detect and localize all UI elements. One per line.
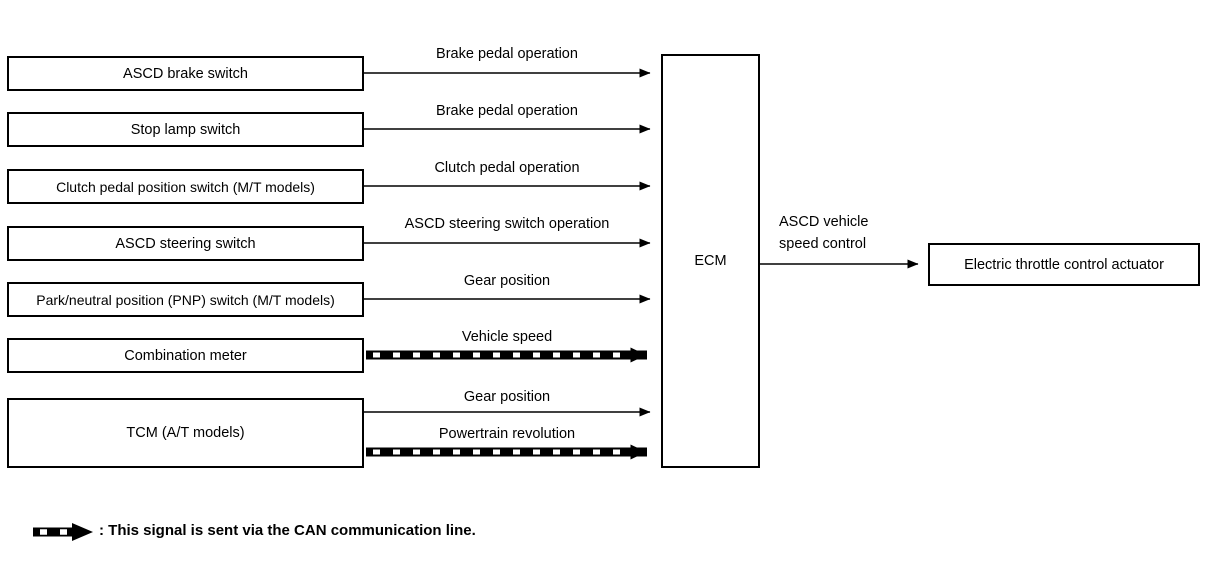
box-label: Clutch pedal position switch (M/T models… <box>56 179 315 195</box>
box-label: ASCD brake switch <box>123 66 248 82</box>
signal-label-gear-position-tcm: Gear position <box>364 389 650 405</box>
signal-label-gear-position-pnp: Gear position <box>364 273 650 289</box>
box-clutch-pedal-position-switch[interactable]: Clutch pedal position switch (M/T models… <box>7 169 364 204</box>
box-electric-throttle-control-actuator[interactable]: Electric throttle control actuator <box>928 243 1200 286</box>
signal-label-clutch-pedal-operation: Clutch pedal operation <box>364 160 650 176</box>
box-label: TCM (A/T models) <box>126 425 244 441</box>
box-label: Stop lamp switch <box>131 122 241 138</box>
box-tcm[interactable]: TCM (A/T models) <box>7 398 364 468</box>
can-legend-text: : This signal is sent via the CAN commun… <box>99 522 476 539</box>
box-pnp-switch[interactable]: Park/neutral position (PNP) switch (M/T … <box>7 282 364 317</box>
ascd-block-diagram: ASCD brake switch Stop lamp switch Clutc… <box>0 0 1216 582</box>
can-legend-arrow-icon <box>33 523 93 541</box>
signal-label-powertrain-revolution: Powertrain revolution <box>364 426 650 442</box>
signal-label-brake-pedal-operation-1: Brake pedal operation <box>364 46 650 62</box>
box-label: Electric throttle control actuator <box>964 257 1164 273</box>
signal-label-ascd-vehicle-speed-control-line2: speed control <box>779 236 866 252</box>
signal-label-ascd-vehicle-speed-control-line1: ASCD vehicle <box>779 214 868 230</box>
signal-label-ascd-steering-switch-operation: ASCD steering switch operation <box>364 216 650 232</box>
box-ascd-steering-switch[interactable]: ASCD steering switch <box>7 226 364 261</box>
box-ecm[interactable]: ECM <box>661 54 760 468</box>
signal-label-vehicle-speed: Vehicle speed <box>364 329 650 345</box>
box-label: Combination meter <box>124 348 247 364</box>
signal-label-brake-pedal-operation-2: Brake pedal operation <box>364 103 650 119</box>
box-stop-lamp-switch[interactable]: Stop lamp switch <box>7 112 364 147</box>
box-label: ASCD steering switch <box>115 236 255 252</box>
box-label: ECM <box>694 253 726 269</box>
box-label: Park/neutral position (PNP) switch (M/T … <box>36 292 335 308</box>
box-combination-meter[interactable]: Combination meter <box>7 338 364 373</box>
box-ascd-brake-switch[interactable]: ASCD brake switch <box>7 56 364 91</box>
